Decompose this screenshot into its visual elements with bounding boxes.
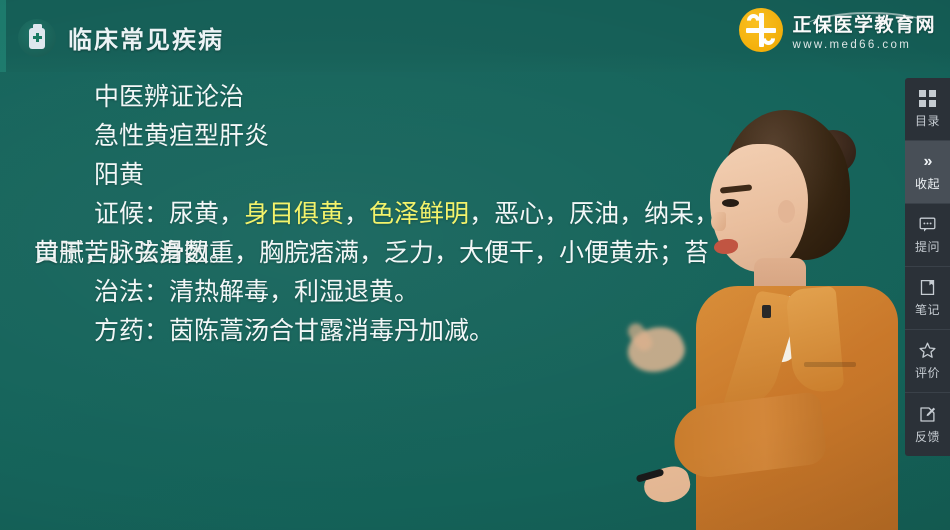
header-accent-bar — [0, 0, 6, 72]
symptom-highlight-1: 身目俱黄 — [244, 200, 344, 228]
grid-icon — [918, 89, 937, 108]
video-player-stage: 临床常见疾病 正保医学教育网 www.med66.com — [0, 0, 950, 530]
toolbar-item-rating[interactable]: 评价 — [905, 330, 950, 393]
chevron-double-right-glyph: » — [924, 154, 932, 170]
comment-icon — [918, 215, 937, 234]
symptom-label: 证候：尿黄， — [94, 200, 244, 228]
toolbar-item-contents[interactable]: 目录 — [905, 78, 950, 141]
symptom-highlight-2: 色泽鲜明 — [369, 200, 469, 228]
right-toolbar: 目录 » 收起 提问 — [905, 78, 950, 456]
symptom-separator-1: ， — [344, 200, 369, 228]
med66-logo-icon — [739, 8, 783, 52]
toolbar-label-ask: 提问 — [915, 238, 940, 255]
brand-url: www.med66.com — [792, 39, 936, 51]
slide-prescription-line: 方药：茵陈蒿汤合甘露消毒丹加减。 — [34, 312, 724, 351]
slide-line-3: 阳黄 — [34, 156, 724, 195]
toolbar-label-contents: 目录 — [915, 112, 940, 129]
brand-logo: 正保医学教育网 www.med66.com — [739, 8, 936, 52]
slide-line-2: 急性黄疸型肝炎 — [34, 117, 724, 156]
slide-text-content: 中医辨证论治 急性黄疸型肝炎 阳黄 证候：尿黄，身目俱黄，色泽鲜明，恶心，厌油，… — [34, 78, 724, 351]
toolbar-item-notes[interactable]: 笔记 — [905, 267, 950, 330]
symptom-tail: ，恶心，厌油，纳呆， — [469, 200, 719, 228]
toolbar-item-ask[interactable]: 提问 — [905, 204, 950, 267]
toolbar-label-collapse: 收起 — [915, 175, 940, 192]
toolbar-label-notes: 笔记 — [915, 301, 940, 318]
toolbar-label-feedback: 反馈 — [915, 428, 940, 445]
edit-icon — [918, 405, 937, 424]
medicine-bottle-icon — [18, 19, 56, 57]
star-icon — [918, 341, 937, 360]
toolbar-item-feedback[interactable]: 反馈 — [905, 393, 950, 456]
slide-line-1: 中医辨证论治 — [34, 78, 724, 117]
slide-treatment-line: 治法：清热解毒，利湿退黄。 — [34, 273, 724, 312]
slide-symptom-line: 证候：尿黄，身目俱黄，色泽鲜明，恶心，厌油，纳呆， — [34, 195, 724, 234]
note-icon — [918, 278, 937, 297]
page-title: 临床常见疾病 — [68, 20, 224, 55]
slide-header: 临床常见疾病 正保医学教育网 www.med66.com — [0, 0, 950, 72]
collapse-icon: » — [918, 152, 937, 171]
toolbar-item-collapse[interactable]: » 收起 — [905, 141, 950, 204]
toolbar-label-rating: 评价 — [915, 364, 940, 381]
